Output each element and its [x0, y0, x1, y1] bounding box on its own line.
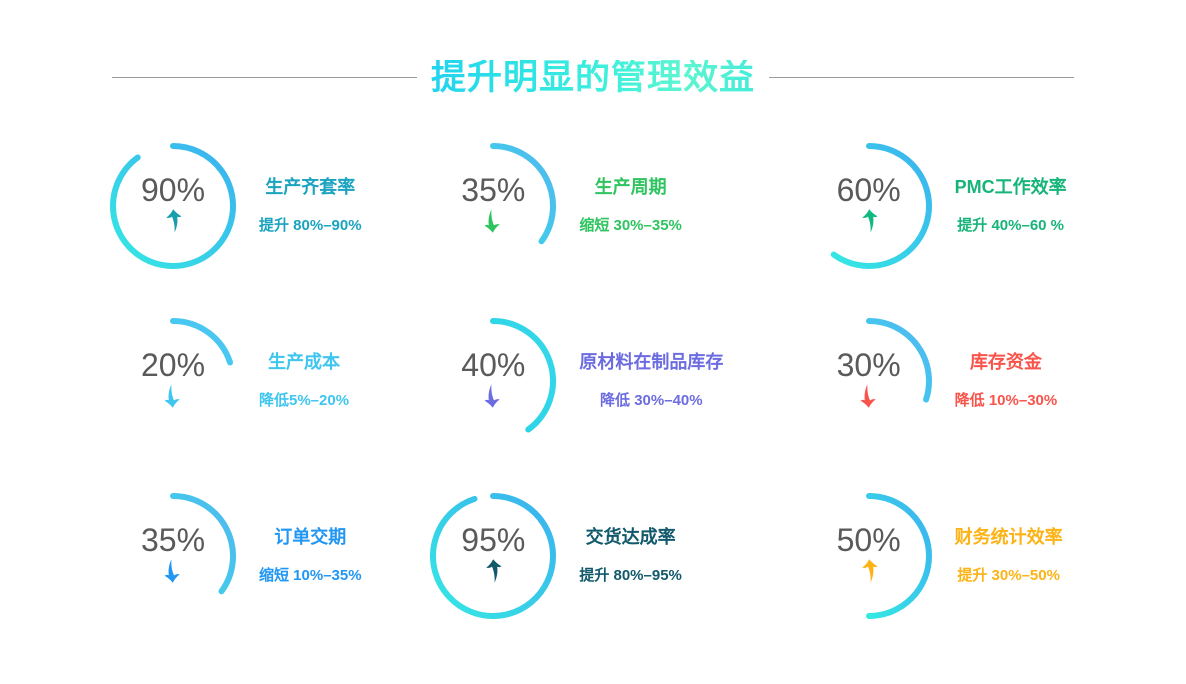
ring-center: 40%	[425, 313, 561, 449]
progress-ring: 35%	[425, 138, 561, 274]
metric-text: PMC工作效率提升 40%–60 %	[955, 178, 1067, 233]
metric-subtitle: 降低 30%–40%	[600, 393, 703, 408]
metric-text: 生产周期缩短 30%–35%	[579, 178, 682, 233]
progress-ring: 20%	[105, 313, 241, 449]
metric-subtitle: 降低 10%–30%	[955, 393, 1058, 408]
ring-center: 90%	[105, 138, 241, 274]
metric-title: 生产周期	[595, 178, 667, 196]
metric-title: 库存资金	[970, 353, 1042, 371]
metric-subtitle: 提升 80%–90%	[259, 218, 362, 233]
trend-arrow	[161, 208, 185, 234]
trend-arrow	[857, 208, 881, 234]
ring-center: 60%	[801, 138, 937, 274]
ring-center: 35%	[425, 138, 561, 274]
ring-center: 30%	[801, 313, 937, 449]
percent-value: 40%	[461, 349, 525, 381]
percent-value: 30%	[837, 349, 901, 381]
metric-title: 订单交期	[274, 528, 346, 546]
metric-card[interactable]: 50%财务统计效率提升 30%–50%	[791, 468, 1186, 643]
metric-title: 财务统计效率	[955, 528, 1063, 546]
arrow-up-icon	[857, 558, 881, 584]
ring-center: 20%	[105, 313, 241, 449]
progress-ring: 35%	[105, 488, 241, 624]
metric-card[interactable]: 40%原材料在制品库存降低 30%–40%	[395, 293, 790, 468]
arrow-down-icon	[161, 558, 185, 584]
metric-text: 生产成本降低5%–20%	[259, 353, 349, 408]
metric-title: PMC工作效率	[955, 178, 1067, 196]
progress-ring: 50%	[801, 488, 937, 624]
header-rule-left	[112, 77, 417, 78]
ring-center: 35%	[105, 488, 241, 624]
metric-text: 订单交期缩短 10%–35%	[259, 528, 362, 583]
metrics-grid: 90%生产齐套率提升 80%–90%35%生产周期缩短 30%–35%60%PM…	[0, 118, 1186, 643]
progress-ring: 30%	[801, 313, 937, 449]
arrow-down-icon	[481, 383, 505, 409]
metric-card[interactable]: 30%库存资金降低 10%–30%	[791, 293, 1186, 468]
metric-text: 财务统计效率提升 30%–50%	[955, 528, 1063, 583]
metric-subtitle: 缩短 30%–35%	[579, 218, 682, 233]
metric-text: 生产齐套率提升 80%–90%	[259, 178, 362, 233]
percent-value: 35%	[461, 174, 525, 206]
ring-center: 95%	[425, 488, 561, 624]
percent-value: 35%	[141, 524, 205, 556]
page-header: 提升明显的管理效益	[0, 52, 1186, 102]
arrow-down-icon	[161, 383, 185, 409]
metric-subtitle: 提升 40%–60 %	[957, 218, 1064, 233]
metric-card[interactable]: 35%生产周期缩短 30%–35%	[395, 118, 790, 293]
metric-title: 生产齐套率	[265, 178, 355, 196]
metric-text: 库存资金降低 10%–30%	[955, 353, 1058, 408]
metric-subtitle: 缩短 10%–35%	[259, 568, 362, 583]
metric-title: 交货达成率	[586, 528, 676, 546]
metric-text: 交货达成率提升 80%–95%	[579, 528, 682, 583]
metric-title: 生产成本	[268, 353, 340, 371]
arrow-down-icon	[857, 383, 881, 409]
metric-text: 原材料在制品库存降低 30%–40%	[579, 353, 723, 408]
metric-card[interactable]: 90%生产齐套率提升 80%–90%	[0, 118, 395, 293]
percent-value: 50%	[837, 524, 901, 556]
trend-arrow	[857, 383, 881, 409]
trend-arrow	[481, 208, 505, 234]
percent-value: 20%	[141, 349, 205, 381]
arrow-up-icon	[857, 208, 881, 234]
arrow-down-icon	[481, 208, 505, 234]
metric-subtitle: 提升 30%–50%	[957, 568, 1060, 583]
trend-arrow	[481, 383, 505, 409]
progress-ring: 60%	[801, 138, 937, 274]
metric-card[interactable]: 35%订单交期缩短 10%–35%	[0, 468, 395, 643]
progress-ring: 40%	[425, 313, 561, 449]
metric-card[interactable]: 95%交货达成率提升 80%–95%	[395, 468, 790, 643]
arrow-up-icon	[161, 208, 185, 234]
trend-arrow	[161, 558, 185, 584]
progress-ring: 90%	[105, 138, 241, 274]
percent-value: 60%	[837, 174, 901, 206]
page-title: 提升明显的管理效益	[431, 60, 755, 95]
percent-value: 90%	[141, 174, 205, 206]
metric-subtitle: 降低5%–20%	[259, 393, 349, 408]
metric-title: 原材料在制品库存	[579, 353, 723, 371]
trend-arrow	[857, 558, 881, 584]
metric-card[interactable]: 60%PMC工作效率提升 40%–60 %	[791, 118, 1186, 293]
metric-card[interactable]: 20%生产成本降低5%–20%	[0, 293, 395, 468]
arrow-up-icon	[481, 558, 505, 584]
progress-ring: 95%	[425, 488, 561, 624]
trend-arrow	[161, 383, 185, 409]
header-rule-right	[769, 77, 1074, 78]
ring-center: 50%	[801, 488, 937, 624]
percent-value: 95%	[461, 524, 525, 556]
trend-arrow	[481, 558, 505, 584]
metric-subtitle: 提升 80%–95%	[579, 568, 682, 583]
